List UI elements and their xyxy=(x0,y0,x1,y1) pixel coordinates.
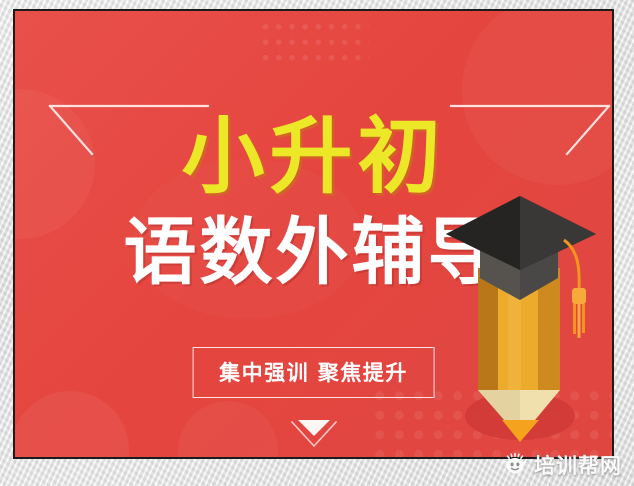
poster-tagline: 集中强训 聚焦提升 xyxy=(192,347,435,398)
decorative-circle-bottom-left xyxy=(15,391,129,457)
decorative-circle-bottom-mid xyxy=(178,401,278,457)
pencil-graduation-cap-illustration xyxy=(446,194,612,452)
site-watermark: 培训帮网 xyxy=(497,448,628,482)
poster-canvas: 小升初 语数外辅导 集中强训 聚焦提升 xyxy=(15,11,612,457)
poster-title-main: 小升初 xyxy=(15,115,612,198)
chevron-down-icon xyxy=(282,416,346,450)
watermark-label: 培训帮网 xyxy=(534,450,622,480)
poster-frame: 小升初 语数外辅导 集中强训 聚焦提升 xyxy=(13,9,614,459)
sun-smiley-logo-icon xyxy=(503,453,527,477)
poster-screenshot: 小升初 语数外辅导 集中强训 聚焦提升 xyxy=(0,0,634,486)
dot-grid-pattern-top xyxy=(259,19,369,65)
